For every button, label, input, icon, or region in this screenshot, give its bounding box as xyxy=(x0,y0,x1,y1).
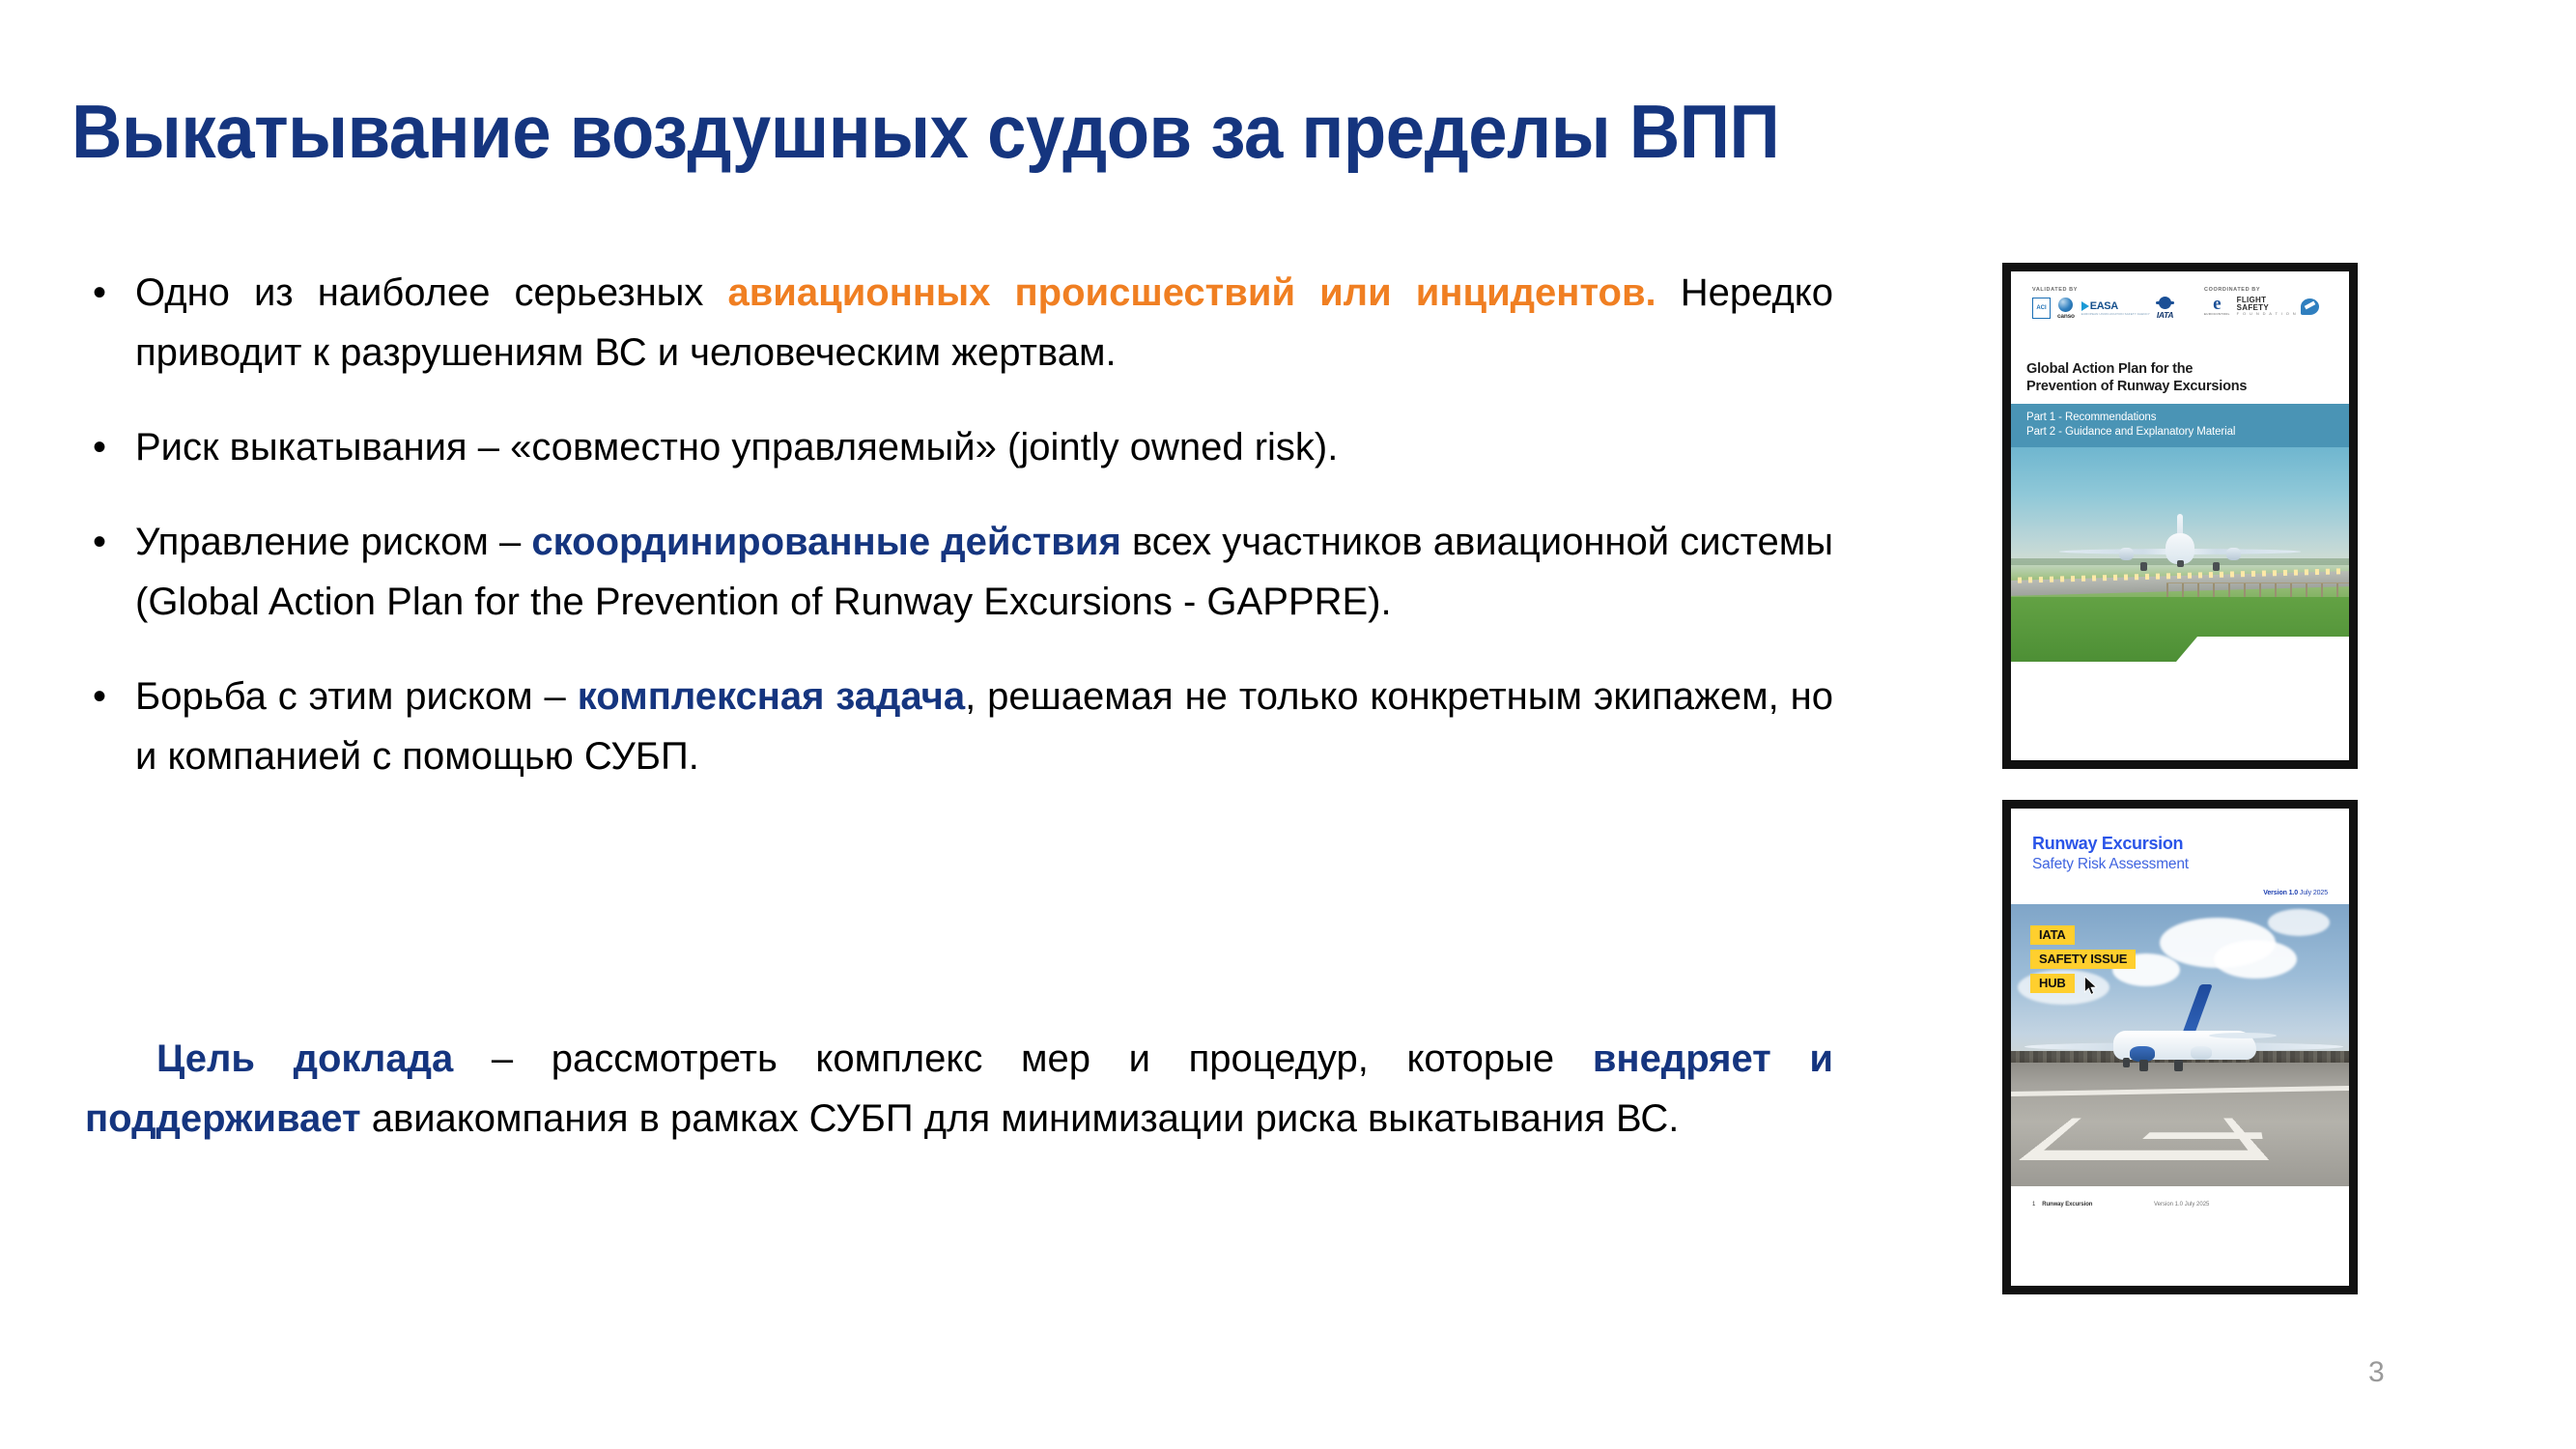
gappre-part2: Part 2 - Guidance and Explanatory Materi… xyxy=(2026,425,2334,440)
iata-globe-icon xyxy=(2159,297,2171,309)
goal-segment: авиакомпания в рамках СУБП для минимизац… xyxy=(361,1097,1680,1140)
gappre-footer xyxy=(2011,662,2349,716)
validated-by-group: VALIDATED BY ACI canso EASA EUROPEAN UNI… xyxy=(2032,287,2173,320)
sra-footer-right: Version 1.0 July 2025 xyxy=(2154,1202,2209,1207)
sra-footer-page: 1 xyxy=(2032,1202,2035,1207)
sra-heading: Runway Excursion Safety Risk Assessment xyxy=(2011,809,2349,880)
sra-badge-group: IATA SAFETY ISSUE HUB xyxy=(2030,925,2136,998)
mouse-cursor-icon xyxy=(2084,977,2099,996)
landing-aircraft-icon xyxy=(2059,520,2301,580)
bullet-text: Одно из наиболее серьезных авиационных п… xyxy=(135,263,1833,383)
canso-logo-icon: canso xyxy=(2057,298,2075,320)
goal-accent-purpose: Цель доклада xyxy=(156,1037,453,1080)
bullet-segment-accent: комплексная задача xyxy=(578,675,965,718)
cloud-shape xyxy=(2268,909,2330,936)
thumbnail-gappre-cover[interactable]: VALIDATED BY ACI canso EASA EUROPEAN UNI… xyxy=(2002,263,2358,769)
bullet-segment: Риск выкатывания – «совместно управляемы… xyxy=(135,426,1338,469)
gappre-parts-band: Part 1 - Recommendations Part 2 - Guidan… xyxy=(2011,404,2349,447)
status-badge-safety-issue: SAFETY ISSUE xyxy=(2030,950,2136,969)
aircraft-gear-left xyxy=(2139,1060,2148,1071)
aircraft-gear-nose xyxy=(2123,1058,2130,1067)
aircraft-gear-left xyxy=(2140,562,2147,571)
sra-subtitle: Safety Risk Assessment xyxy=(2032,855,2328,874)
bullet-marker: • xyxy=(85,417,135,477)
gappre-part1: Part 1 - Recommendations xyxy=(2026,411,2334,425)
status-badge-hub: HUB xyxy=(2030,974,2075,993)
list-item: • Борьба с этим риском – комплексная зад… xyxy=(85,667,1833,786)
iata-label: IATA xyxy=(2157,310,2173,320)
eurocontrol-logo-icon: e EUROCONTROL xyxy=(2204,297,2230,316)
sra-version-number: Version 1.0 xyxy=(2263,890,2298,896)
bullet-segment: Управление риском – xyxy=(135,521,531,563)
aircraft-horizontal-stabilizer xyxy=(2209,1033,2277,1038)
landing-aircraft-icon xyxy=(2024,1017,2343,1100)
list-item: • Риск выкатывания – «совместно управляе… xyxy=(85,417,1833,477)
canso-globe-icon xyxy=(2058,298,2073,312)
runway-marking xyxy=(2142,1133,2262,1140)
aci-logo-icon: ACI xyxy=(2032,298,2051,319)
page-title: Выкатывание воздушных судов за пределы В… xyxy=(71,94,2083,171)
easa-logo-icon: EASA EUROPEAN UNION AVIATION SAFETY AGEN… xyxy=(2081,301,2150,316)
cover-white-cut xyxy=(2197,637,2350,662)
gappre-title: Global Action Plan for the Prevention of… xyxy=(2011,355,2349,404)
goal-segment: – рассмотреть комплекс мер и процедур, к… xyxy=(453,1037,1593,1080)
eurocontrol-e-icon: e xyxy=(2213,297,2221,312)
easa-sublabel: EUROPEAN UNION AVIATION SAFETY AGENCY xyxy=(2081,312,2150,316)
iata-logo-icon: IATA xyxy=(2157,297,2173,320)
goal-paragraph: Цель доклада – рассмотреть комплекс мер … xyxy=(85,1029,1833,1149)
thumbnail-iata-sra-cover[interactable]: Runway Excursion Safety Risk Assessment … xyxy=(2002,800,2358,1294)
sra-cover-photo: IATA SAFETY ISSUE HUB xyxy=(2011,904,2349,1186)
fsf-swoosh-icon xyxy=(2301,298,2319,315)
gappre-title-line1: Global Action Plan for the xyxy=(2026,360,2334,378)
aircraft-engine-right xyxy=(2191,1046,2212,1060)
cloud-shape xyxy=(2214,940,2297,979)
gappre-logo-strip: VALIDATED BY ACI canso EASA EUROPEAN UNI… xyxy=(2011,271,2349,355)
sra-footer-left: 1Runway Excursion xyxy=(2032,1202,2092,1207)
sra-version: Version 1.0 July 2025 xyxy=(2011,880,2349,904)
bullet-segment: Борьба с этим риском – xyxy=(135,675,578,718)
bullet-text: Риск выкатывания – «совместно управляемы… xyxy=(135,417,1833,477)
bullet-marker: • xyxy=(85,263,135,323)
gappre-title-line2: Prevention of Runway Excursions xyxy=(2026,378,2334,395)
bullet-text: Управление риском – скоординированные де… xyxy=(135,512,1833,632)
easa-label: EASA xyxy=(2090,301,2118,312)
bullet-segment-accent: скоординированные действия xyxy=(531,521,1120,563)
aircraft-gear-right xyxy=(2174,1060,2183,1071)
fsf-line3: F O U N D A T I O N xyxy=(2237,312,2297,316)
status-badge-iata: IATA xyxy=(2030,925,2075,945)
bullet-text: Борьба с этим риском – комплексная задач… xyxy=(135,667,1833,786)
aircraft-gear-nose xyxy=(2177,560,2184,567)
coordinated-by-group: COORDINATED BY e EUROCONTROL FLIGHT SAFE… xyxy=(2204,287,2319,316)
bullet-marker: • xyxy=(85,667,135,726)
sra-footer-title: Runway Excursion xyxy=(2042,1202,2092,1207)
bullet-marker: • xyxy=(85,512,135,572)
aircraft-gear-right xyxy=(2213,562,2220,571)
aircraft-engine-right xyxy=(2226,548,2241,560)
sra-footer: 1Runway Excursion Version 1.0 July 2025 xyxy=(2011,1186,2349,1235)
canso-label: canso xyxy=(2057,313,2075,320)
slide-number: 3 xyxy=(2368,1356,2385,1389)
easa-triangle-icon xyxy=(2081,301,2089,311)
aircraft-engine-left xyxy=(2119,548,2134,560)
validated-by-caption: VALIDATED BY xyxy=(2032,287,2173,293)
sra-title: Runway Excursion xyxy=(2032,834,2328,854)
list-item: • Управление риском – скоординированные … xyxy=(85,512,1833,632)
eurocontrol-label: EUROCONTROL xyxy=(2204,312,2230,316)
list-item: • Одно из наиболее серьезных авиационных… xyxy=(85,263,1833,383)
bullet-segment: Одно из наиболее серьезных xyxy=(135,271,727,314)
sra-version-date: July 2025 xyxy=(2298,890,2328,896)
bullet-list: • Одно из наиболее серьезных авиационных… xyxy=(85,263,1833,821)
gappre-cover-photo xyxy=(2011,447,2349,662)
flight-safety-foundation-logo-icon: FLIGHT SAFETY F O U N D A T I O N xyxy=(2237,297,2319,316)
bullet-segment-accent: авиационных происшествий или инцидентов. xyxy=(727,271,1656,314)
coordinated-by-caption: COORDINATED BY xyxy=(2204,287,2319,293)
